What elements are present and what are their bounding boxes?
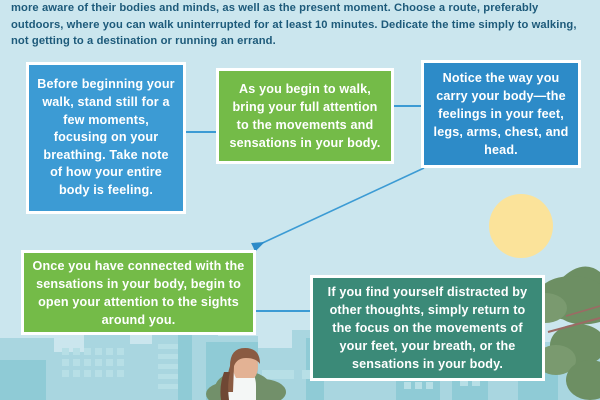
flow-step-3[interactable]: Notice the way you carry your body—the f… xyxy=(421,60,581,168)
flow-step-5[interactable]: If you find yourself distracted by other… xyxy=(310,275,545,381)
flow-step-2[interactable]: As you begin to walk, bring your full at… xyxy=(216,68,394,164)
intro-paragraph: more aware of their bodies and minds, as… xyxy=(11,0,589,50)
diagonal-arrow-line xyxy=(256,168,424,246)
connector-step4-to-step5 xyxy=(248,310,312,312)
flow-step-4[interactable]: Once you have connected with the sensati… xyxy=(21,250,256,335)
infographic-canvas: more aware of their bodies and minds, as… xyxy=(0,0,600,400)
flow-step-2-text: As you begin to walk, bring your full at… xyxy=(219,80,391,152)
flow-step-5-text: If you find yourself distracted by other… xyxy=(313,283,542,373)
connector-step2-to-step3 xyxy=(394,105,422,107)
flow-step-1[interactable]: Before beginning your walk, stand still … xyxy=(26,62,186,214)
flow-step-4-text: Once you have connected with the sensati… xyxy=(24,257,253,329)
connector-step1-to-step2 xyxy=(186,131,218,133)
flow-step-3-text: Notice the way you carry your body—the f… xyxy=(424,69,578,159)
connector-step3-to-step4 xyxy=(180,160,600,260)
flow-step-1-text: Before beginning your walk, stand still … xyxy=(29,76,183,199)
